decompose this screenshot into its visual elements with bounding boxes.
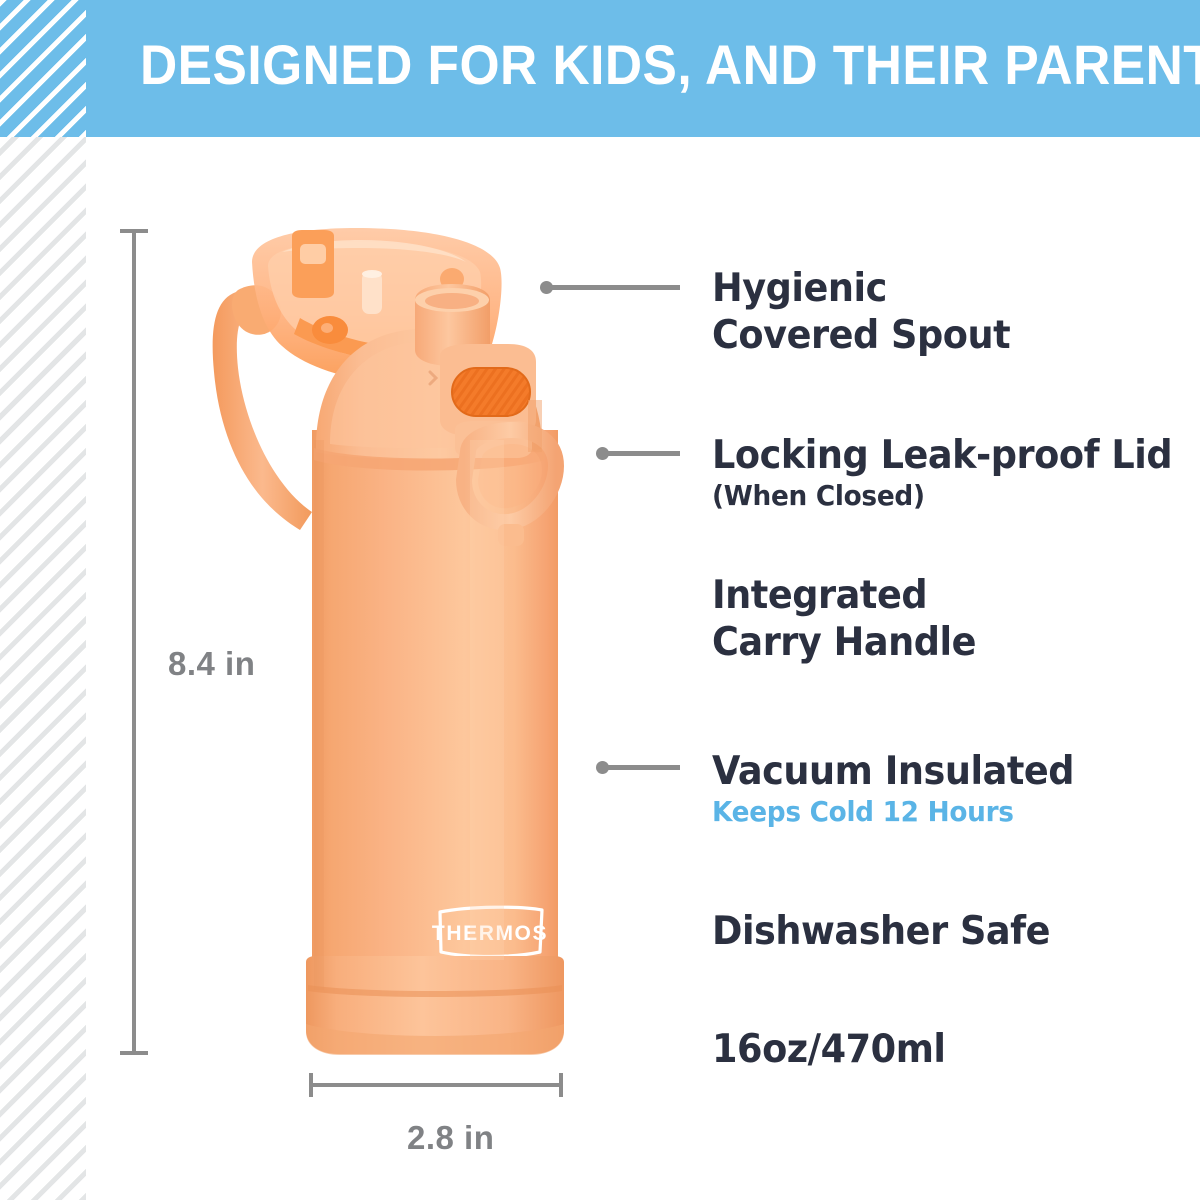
bottle-base [306, 956, 564, 1055]
lid-push-button [452, 368, 530, 416]
page-title: DESIGNED FOR KIDS, AND THEIR PARENTS [140, 34, 1200, 96]
feature-vacuum-insulated: Vacuum Insulated Keeps Cold 12 Hours [712, 748, 1097, 829]
locking-ring [464, 430, 556, 546]
height-dimension-label: 8.4 in [168, 645, 255, 683]
bottle-body [312, 430, 558, 995]
feature-title-line: Carry Handle [712, 619, 976, 666]
width-dimension-line [311, 1083, 563, 1087]
product-image-bottle: THERMOS [0, 0, 1200, 1200]
feature-title-line: Integrated [712, 572, 976, 619]
feature-title-line: Hygienic [712, 265, 1010, 312]
feature-subtitle: (When Closed) [712, 479, 1172, 513]
width-dimension-cap-right [559, 1073, 563, 1097]
connector-line [605, 765, 680, 770]
flip-lid-illustration [252, 228, 502, 384]
feature-dishwasher-safe: Dishwasher Safe [712, 908, 1072, 955]
feature-title-line: Dishwasher Safe [712, 908, 1050, 955]
infographic-canvas: DESIGNED FOR KIDS, AND THEIR PARENTS [0, 0, 1200, 1200]
feature-title-line: 16oz/470ml [712, 1026, 946, 1073]
feature-title-line: Locking Leak-proof Lid [712, 432, 1172, 479]
carry-handle-illustration [213, 285, 312, 530]
thermos-logo: THERMOS [432, 907, 548, 956]
height-dimension-cap-bottom [120, 1051, 148, 1055]
diagonal-stripe-band [0, 0, 86, 1200]
connector-locking-leak-proof-lid [596, 444, 680, 462]
feature-title-line: Vacuum Insulated [712, 748, 1074, 795]
svg-text:THERMOS: THERMOS [432, 922, 548, 945]
feature-subtitle: Keeps Cold 12 Hours [712, 795, 1074, 829]
feature-capacity: 16oz/470ml [712, 1026, 960, 1073]
connector-hygienic-covered-spout [540, 278, 680, 296]
connector-line [605, 451, 680, 456]
feature-title-line: Covered Spout [712, 312, 1010, 359]
diagonal-stripe-band-header [0, 0, 86, 137]
connector-vacuum-insulated [596, 758, 680, 776]
height-dimension-line [132, 231, 136, 1053]
header-banner: DESIGNED FOR KIDS, AND THEIR PARENTS [0, 0, 1200, 137]
feature-locking-leak-proof-lid: Locking Leak-proof Lid (When Closed) [712, 432, 1200, 513]
width-dimension-label: 2.8 in [407, 1119, 494, 1157]
feature-integrated-carry-handle: Integrated Carry Handle [712, 572, 993, 666]
feature-hygienic-covered-spout: Hygienic Covered Spout [712, 265, 1029, 359]
bottle-lid-illustration [314, 284, 556, 546]
connector-line [549, 285, 680, 290]
